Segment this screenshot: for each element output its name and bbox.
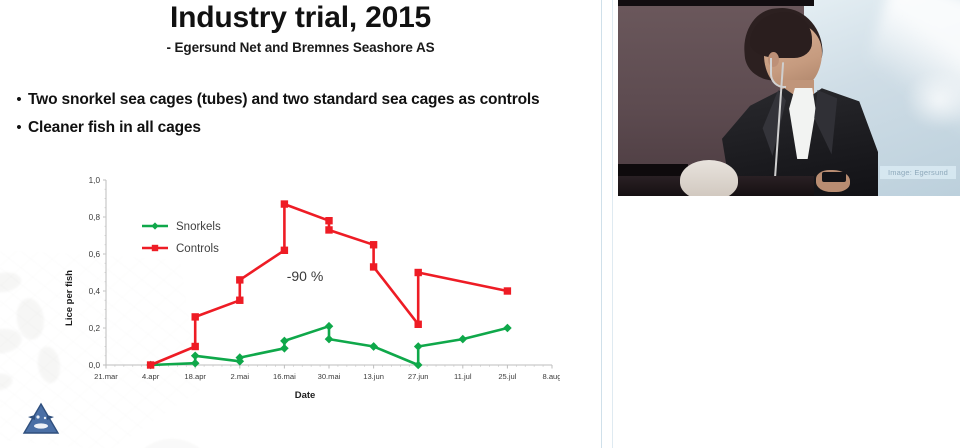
bullet-dot-icon: • — [10, 88, 28, 112]
x-tick-label: 4.apr — [142, 372, 160, 381]
bullet-dot-icon: • — [10, 116, 28, 140]
list-item-label: Two snorkel sea cages (tubes) and two st… — [28, 88, 540, 112]
list-item: • Two snorkel sea cages (tubes) and two … — [10, 88, 585, 112]
x-tick-label: 13.jun — [363, 372, 384, 381]
bullet-list: • Two snorkel sea cages (tubes) and two … — [10, 88, 585, 144]
video-panel: Image: Egersund — [618, 0, 960, 448]
video-watermark: Image: Egersund — [880, 166, 956, 179]
projection-glare-secondary — [904, 70, 960, 130]
logo-graphic — [22, 402, 60, 436]
list-item: • Cleaner fish in all cages — [10, 116, 585, 140]
chart-legend: SnorkelsControls — [142, 221, 221, 255]
panel-divider — [601, 0, 602, 448]
title-block: Industry trial, 2015 - Egersund Net and … — [0, 2, 601, 55]
background-shell-watermark — [112, 398, 232, 448]
y-axis-title: Lice per fish — [64, 270, 75, 326]
y-tick-label: 1,0 — [89, 176, 101, 185]
x-tick-label: 30.mai — [318, 372, 341, 381]
y-tick-label: 0,6 — [89, 250, 101, 259]
x-tick-label: 11.jul — [454, 372, 472, 381]
legend-item-controls: Controls — [142, 243, 219, 255]
screenshot-root: Industry trial, 2015 - Egersund Net and … — [0, 0, 960, 448]
chart-annotation: -90 % — [287, 268, 324, 284]
triangle-fish-logo — [22, 402, 60, 436]
presentation-video[interactable]: Image: Egersund — [618, 0, 960, 196]
x-tick-label: 18.apr — [184, 372, 206, 381]
list-item-label: Cleaner fish in all cages — [28, 116, 201, 140]
bullet-text-2: Cleaner fish in all cages — [28, 119, 201, 136]
chart-canvas: 0,00,20,40,60,81,0 21.mar4.apr18.apr2.ma… — [60, 168, 560, 403]
speaker-clicker — [822, 172, 846, 182]
bullet-text-1: Two snorkel sea cages (tubes) and two st… — [28, 91, 540, 108]
x-tick-label: 8.aug — [542, 372, 560, 381]
x-tick-label: 16.mai — [273, 372, 296, 381]
y-tick-label: 0,4 — [89, 287, 101, 296]
x-tick-label: 27.jun — [408, 372, 429, 381]
legend-label: Controls — [176, 243, 219, 255]
y-tick-label: 0,2 — [89, 324, 101, 333]
page-subtitle: - Egersund Net and Bremnes Seashore AS — [0, 40, 601, 55]
audience-member — [680, 160, 738, 196]
series-snorkels — [147, 323, 511, 369]
panel-divider-secondary — [612, 0, 613, 448]
x-tick-label: 21.mar — [94, 372, 118, 381]
page-title: Industry trial, 2015 — [0, 2, 601, 34]
presentation-slide: Industry trial, 2015 - Egersund Net and … — [0, 0, 601, 448]
lice-per-fish-chart: 0,00,20,40,60,81,0 21.mar4.apr18.apr2.ma… — [60, 168, 560, 403]
x-axis-tick-labels: 21.mar4.apr18.apr2.mai16.mai30.mai13.jun… — [94, 365, 560, 381]
x-tick-label: 25.jul — [498, 372, 516, 381]
x-tick-label: 2.mai — [231, 372, 250, 381]
legend-label: Snorkels — [176, 221, 221, 233]
video-top-strip — [618, 0, 814, 6]
legend-item-snorkels: Snorkels — [142, 221, 221, 233]
y-tick-label: 0,0 — [89, 361, 101, 370]
y-axis-tick-labels: 0,00,20,40,60,81,0 — [89, 176, 106, 370]
y-tick-label: 0,8 — [89, 213, 101, 222]
x-axis-title: Date — [295, 390, 316, 401]
